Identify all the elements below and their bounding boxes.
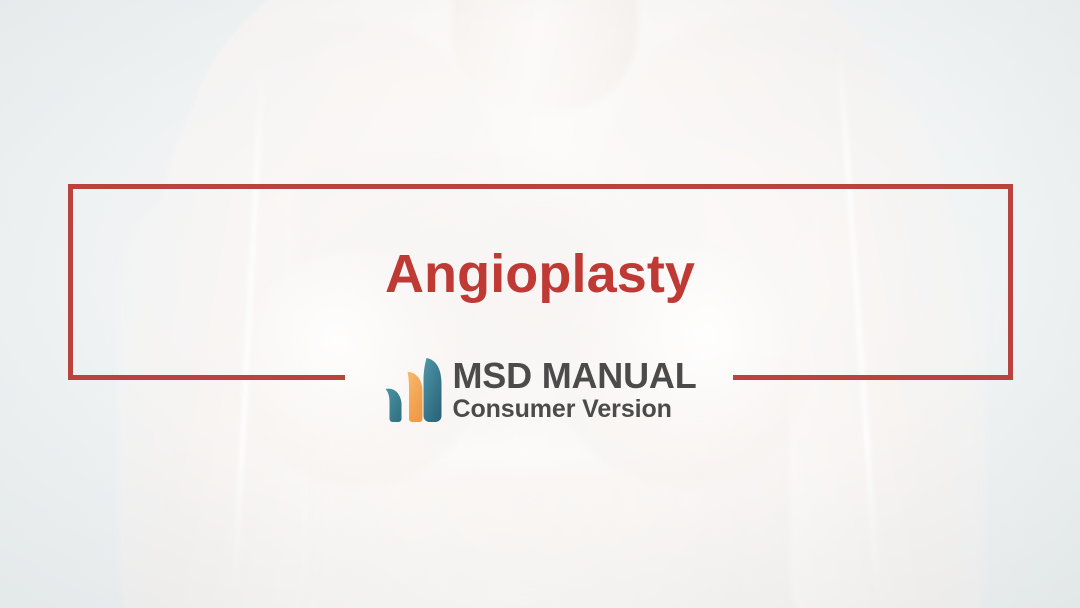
brand-wordmark: MSD MANUAL Consumer Version: [453, 358, 697, 422]
page-title: Angioplasty: [0, 246, 1080, 303]
title-card-slide: Angioplasty: [0, 0, 1080, 608]
msd-manual-logo: MSD MANUAL Consumer Version: [384, 358, 697, 427]
frame-bottom-right-border: [733, 375, 1013, 380]
frame-top-border: [68, 184, 1013, 189]
brand-edition: Consumer Version: [453, 397, 697, 422]
brand-name: MSD MANUAL: [453, 358, 697, 394]
msd-manual-wave-logo-icon: [384, 358, 442, 427]
frame-bottom-left-border: [68, 375, 345, 380]
